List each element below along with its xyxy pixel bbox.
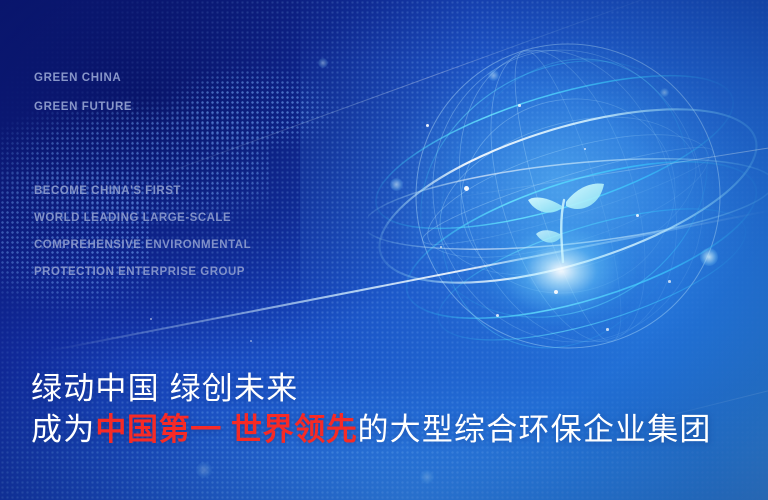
headline-line-2: 成为中国第一 世界领先的大型综合环保企业集团 [31,408,761,452]
headline-prefix: 成为 [31,412,95,447]
slogan-en-line-1: BECOME CHINA'S FIRST [34,185,181,197]
headline-suffix: 的大型综合环保企业集团 [357,412,711,447]
banner-canvas: GREEN CHINA GREEN FUTURE BECOME CHINA'S … [0,0,768,500]
slogan-en-line-4: PROTECTION ENTERPRISE GROUP [34,266,245,278]
headline-highlight-china-first: 中国第一 [95,412,221,447]
slogan-en-line-2: WORLD LEADING LARGE-SCALE [34,212,231,224]
eyebrow-line-2: GREEN FUTURE [34,101,132,113]
headline-line-1: 绿动中国 绿创未来 [31,370,761,408]
slogan-en-line-3: COMPREHENSIVE ENVIRONMENTAL [34,239,251,251]
eyebrow-line-1: GREEN CHINA [34,72,121,84]
headline-highlight-world-leading: 世界领先 [231,412,357,447]
headline-block: 绿动中国 绿创未来 成为中国第一 世界领先的大型综合环保企业集团 [31,370,761,452]
headline-highlight-gap [222,412,231,447]
